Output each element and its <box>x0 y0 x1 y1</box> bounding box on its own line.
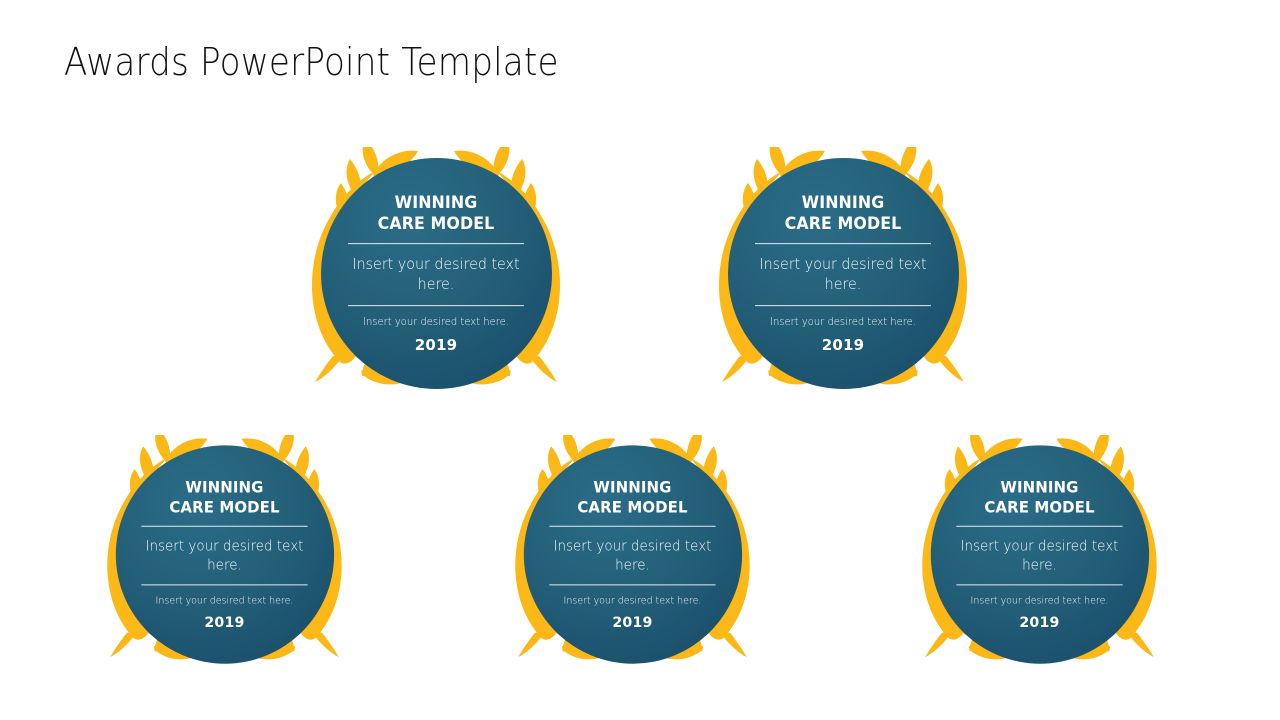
page-title: Awards PowerPoint Template <box>64 40 559 84</box>
divider-bottom <box>549 585 715 586</box>
badge-disc: WINNING CARE MODEL Insert your desired t… <box>321 158 552 389</box>
badge-heading-line1: WINNING <box>145 478 305 498</box>
divider-bottom <box>755 305 931 306</box>
badge-heading-line1: WINNING <box>352 192 521 213</box>
badge-inner: WINNING CARE MODEL Insert your desired t… <box>893 435 1186 673</box>
badge-primary-text: Insert your desired text here. <box>145 537 303 574</box>
divider-top <box>348 243 524 244</box>
badge-heading-line1: WINNING <box>960 478 1120 498</box>
badge-heading-line2: CARE MODEL <box>960 498 1120 518</box>
badge-heading: WINNING CARE MODEL <box>553 478 713 518</box>
badge-heading: WINNING CARE MODEL <box>960 478 1120 518</box>
award-badge-1[interactable]: WINNING CARE MODEL Insert your desired t… <box>281 147 591 399</box>
badge-secondary-text: Insert your desired text here. <box>553 595 711 608</box>
badge-secondary-text: Insert your desired text here. <box>759 316 926 330</box>
badge-heading: WINNING CARE MODEL <box>145 478 305 518</box>
badge-content: WINNING CARE MODEL Insert your desired t… <box>755 192 931 354</box>
badge-year: 2019 <box>141 614 307 631</box>
award-badge-3[interactable]: WINNING CARE MODEL Insert your desired t… <box>78 435 371 673</box>
award-badge-5[interactable]: WINNING CARE MODEL Insert your desired t… <box>893 435 1186 673</box>
badge-heading: WINNING CARE MODEL <box>759 192 928 234</box>
badge-heading: WINNING CARE MODEL <box>352 192 521 234</box>
divider-bottom <box>956 585 1122 586</box>
badge-heading-line1: WINNING <box>759 192 928 213</box>
badge-content: WINNING CARE MODEL Insert your desired t… <box>956 478 1122 631</box>
badge-inner: WINNING CARE MODEL Insert your desired t… <box>281 147 591 399</box>
badge-inner: WINNING CARE MODEL Insert your desired t… <box>688 147 998 399</box>
divider-top <box>956 526 1122 527</box>
badge-primary-text: Insert your desired text here. <box>553 537 711 574</box>
divider-top <box>549 526 715 527</box>
slide-canvas: Awards PowerPoint Template <box>0 0 1280 720</box>
badge-secondary-text: Insert your desired text here. <box>145 595 303 608</box>
badge-heading-line2: CARE MODEL <box>553 498 713 518</box>
badge-content: WINNING CARE MODEL Insert your desired t… <box>549 478 715 631</box>
badge-heading-line1: WINNING <box>553 478 713 498</box>
badge-secondary-text: Insert your desired text here. <box>960 595 1118 608</box>
badge-disc: WINNING CARE MODEL Insert your desired t… <box>523 445 741 663</box>
badge-disc: WINNING CARE MODEL Insert your desired t… <box>115 445 333 663</box>
badge-content: WINNING CARE MODEL Insert your desired t… <box>141 478 307 631</box>
divider-bottom <box>141 585 307 586</box>
badge-heading-line2: CARE MODEL <box>352 213 521 234</box>
badge-content: WINNING CARE MODEL Insert your desired t… <box>348 192 524 354</box>
badge-year: 2019 <box>348 336 524 354</box>
badge-disc: WINNING CARE MODEL Insert your desired t… <box>930 445 1148 663</box>
divider-top <box>755 243 931 244</box>
badge-inner: WINNING CARE MODEL Insert your desired t… <box>486 435 779 673</box>
badge-disc: WINNING CARE MODEL Insert your desired t… <box>728 158 959 389</box>
badge-heading-line2: CARE MODEL <box>759 213 928 234</box>
badge-year: 2019 <box>956 614 1122 631</box>
divider-top <box>141 526 307 527</box>
badge-primary-text: Insert your desired text here. <box>960 537 1118 574</box>
badge-inner: WINNING CARE MODEL Insert your desired t… <box>78 435 371 673</box>
badge-heading-line2: CARE MODEL <box>145 498 305 518</box>
badge-primary-text: Insert your desired text here. <box>352 255 519 294</box>
badge-secondary-text: Insert your desired text here. <box>352 316 519 330</box>
badge-year: 2019 <box>549 614 715 631</box>
award-badge-4[interactable]: WINNING CARE MODEL Insert your desired t… <box>486 435 779 673</box>
badge-primary-text: Insert your desired text here. <box>759 255 926 294</box>
award-badge-2[interactable]: WINNING CARE MODEL Insert your desired t… <box>688 147 998 399</box>
divider-bottom <box>348 305 524 306</box>
badge-year: 2019 <box>755 336 931 354</box>
